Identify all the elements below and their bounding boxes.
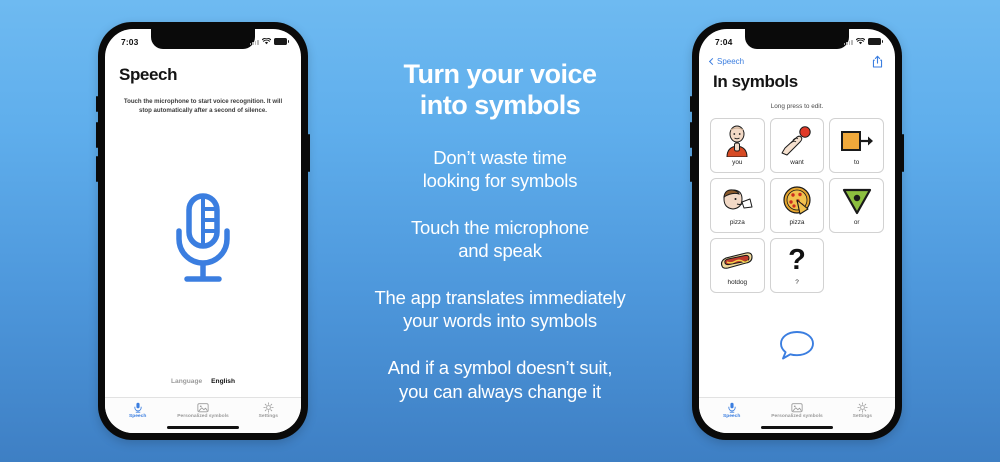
face-eating-symbol [720, 183, 754, 218]
gear-icon [263, 402, 274, 413]
phone-right-screen: 7:04 Speech In symbols [699, 29, 895, 433]
microphone-icon [727, 402, 737, 413]
paragraph-line: you can always change it [388, 380, 613, 403]
symbol-label: to [854, 159, 859, 166]
question-mark-symbol: ? [785, 243, 809, 278]
language-label: Language [171, 378, 202, 385]
paragraph-2: Touch the microphone and speak [411, 216, 589, 262]
symbol-label: or [854, 219, 860, 226]
tab-label: Personalized symbols [177, 414, 228, 419]
home-indicator [105, 422, 301, 433]
tab-settings[interactable]: Settings [236, 402, 301, 420]
volume-down-button [96, 156, 98, 182]
symbol-label: you [732, 159, 742, 166]
volume-down-button [690, 156, 692, 182]
symbol-label: pizza [730, 219, 745, 226]
language-row[interactable]: Language English [105, 378, 301, 397]
battery-icon [274, 38, 287, 45]
paragraph-line: And if a symbol doesn’t suit, [388, 356, 613, 379]
phone-left: 7:03 Speech Touch the microphone to star… [98, 22, 308, 440]
paragraph-4: And if a symbol doesn’t suit, you can al… [388, 356, 613, 402]
headline-line-1: Turn your voice [403, 59, 596, 89]
symbol-label: hotdog [728, 279, 748, 286]
symbol-cell-eat[interactable]: pizza [710, 178, 765, 233]
symbol-cell-or[interactable]: or [829, 178, 884, 233]
svg-text:?: ? [788, 245, 806, 276]
power-button [308, 134, 310, 172]
nav-bar: Speech [699, 51, 895, 68]
back-button[interactable]: Speech [710, 57, 744, 66]
symbol-grid: you want [699, 110, 895, 293]
silent-switch [96, 96, 98, 112]
symbol-cell-pizza[interactable]: pizza [770, 178, 825, 233]
page-title: Speech [105, 51, 301, 85]
tab-label: Settings [853, 414, 872, 419]
speech-bubble-icon[interactable] [778, 329, 816, 361]
language-value[interactable]: English [211, 378, 235, 385]
photo-icon [791, 402, 803, 413]
hand-reaching-ball-symbol [780, 123, 814, 158]
person-pointing-self-symbol [722, 123, 752, 158]
tab-label: Speech [723, 414, 740, 419]
hotdog-symbol [719, 243, 755, 278]
wifi-icon [262, 38, 271, 45]
paragraph-3: The app translates immediately your word… [374, 286, 625, 332]
photo-icon [197, 402, 209, 413]
tab-settings[interactable]: Settings [830, 402, 895, 420]
tab-personalized-symbols[interactable]: Personalized symbols [764, 402, 829, 420]
marketing-copy: Turn your voice into symbols Don’t waste… [322, 0, 678, 462]
tab-label: Settings [259, 414, 278, 419]
speak-button-area[interactable] [699, 293, 895, 397]
page-title: In symbols [699, 68, 895, 92]
phone-right: 7:04 Speech In symbols [692, 22, 902, 440]
headline-line-2: into symbols [403, 90, 596, 120]
home-indicator [699, 422, 895, 433]
paragraph-line: The app translates immediately [374, 286, 625, 309]
tab-speech[interactable]: Speech [105, 402, 170, 420]
wifi-icon [856, 38, 865, 45]
back-button-label: Speech [717, 57, 744, 66]
status-bar-right: 7:04 [699, 29, 895, 51]
edit-hint: Long press to edit. [699, 92, 895, 110]
silent-switch [690, 96, 692, 112]
signal-icon [250, 39, 259, 45]
paragraph-line: your words into symbols [374, 309, 625, 332]
tab-bar-right: Speech Personalized symbols [699, 397, 895, 423]
microphone-icon [133, 402, 143, 413]
symbol-cell-you[interactable]: you [710, 118, 765, 173]
tab-bar-left: Speech Personalized symbols [105, 397, 301, 423]
status-bar-left: 7:03 [105, 29, 301, 51]
symbol-cell-to[interactable]: to [829, 118, 884, 173]
symbol-cell-want[interactable]: want [770, 118, 825, 173]
symbol-cell-hotdog[interactable]: hotdog [710, 238, 765, 293]
signal-icon [844, 39, 853, 45]
chevron-left-icon [709, 57, 716, 64]
share-icon[interactable] [872, 55, 883, 68]
volume-up-button [96, 122, 98, 148]
power-button [902, 134, 904, 172]
paragraph-1: Don’t waste time looking for symbols [423, 146, 578, 192]
microphone-icon[interactable] [167, 191, 239, 287]
paragraph-line: Touch the microphone [411, 216, 589, 239]
symbol-cell-empty [829, 238, 884, 293]
instruction-text: Touch the microphone to start voice reco… [105, 85, 301, 116]
pizza-symbol [781, 183, 813, 218]
battery-icon [868, 38, 881, 45]
paragraph-line: Don’t waste time [423, 146, 578, 169]
symbol-cell-question[interactable]: ? ? [770, 238, 825, 293]
tab-personalized-symbols[interactable]: Personalized symbols [170, 402, 235, 420]
status-time: 7:03 [121, 37, 138, 47]
tab-label: Personalized symbols [771, 414, 822, 419]
symbol-label: want [790, 159, 804, 166]
square-arrow-symbol [840, 123, 874, 158]
gear-icon [857, 402, 868, 413]
paragraph-line: and speak [411, 239, 589, 262]
paragraph-line: looking for symbols [423, 169, 578, 192]
tab-speech[interactable]: Speech [699, 402, 764, 420]
green-triangle-symbol [842, 183, 872, 218]
tab-label: Speech [129, 414, 146, 419]
microphone-button-area[interactable] [105, 116, 301, 378]
status-time: 7:04 [715, 37, 732, 47]
phone-left-screen: 7:03 Speech Touch the microphone to star… [105, 29, 301, 433]
headline: Turn your voice into symbols [403, 59, 596, 119]
volume-up-button [690, 122, 692, 148]
symbol-label: pizza [790, 219, 805, 226]
symbol-label: ? [795, 279, 799, 286]
